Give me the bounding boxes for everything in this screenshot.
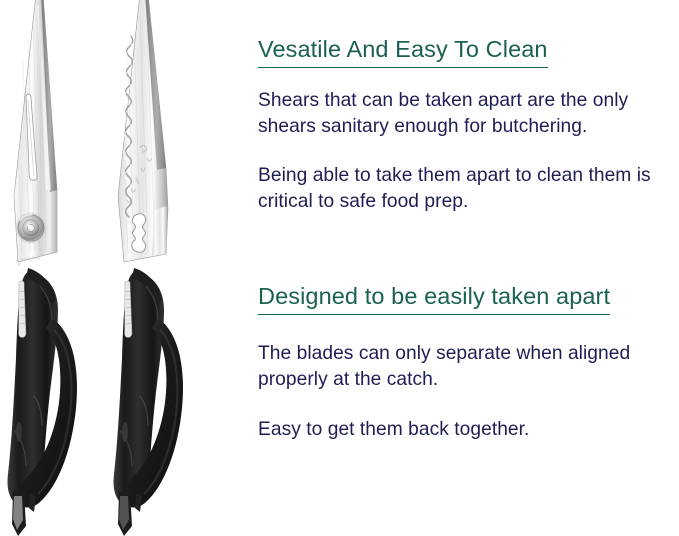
left-pivot-screw: [16, 213, 47, 244]
right-handle-detail-slot: [122, 422, 128, 442]
paragraph-clean: Being able to take them apart to clean t…: [258, 163, 679, 214]
paragraph-sanitary: Shears that can be taken apart are the o…: [258, 88, 679, 139]
product-feature-panel: Vesatile And Easy To Clean Shears that c…: [0, 0, 679, 536]
paragraph-reassemble: Easy to get them back together.: [258, 417, 679, 443]
left-handle-detail-slot: [16, 422, 22, 442]
heading-designed: Designed to be easily taken apart: [258, 283, 610, 315]
product-image: [0, 0, 250, 536]
copy-column: Vesatile And Easy To Clean Shears that c…: [256, 0, 679, 536]
right-blade-bone-notch: [132, 214, 146, 252]
left-shear-half: [8, 0, 78, 536]
paragraph-catch: The blades can only separate when aligne…: [258, 341, 679, 392]
heading-versatile: Vesatile And Easy To Clean: [258, 36, 548, 68]
right-shear-half: [114, 0, 184, 536]
